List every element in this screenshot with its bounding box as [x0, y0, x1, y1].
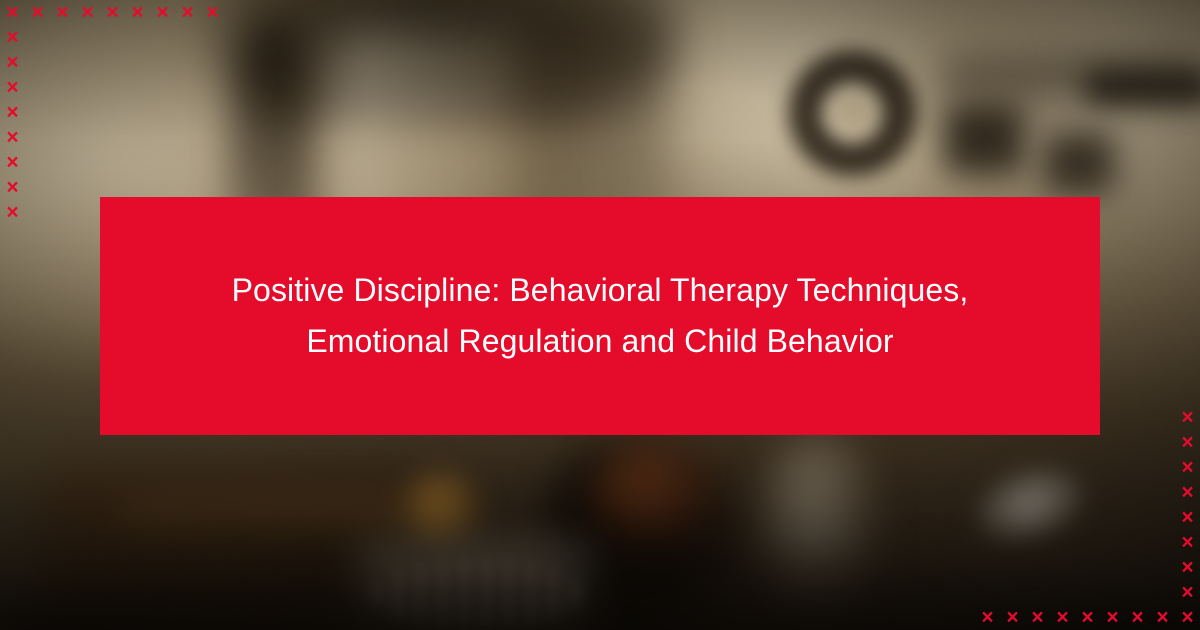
- page-title: Positive Discipline: Behavioral Therapy …: [205, 265, 995, 367]
- title-banner: Positive Discipline: Behavioral Therapy …: [100, 197, 1100, 435]
- social-share-card: ××××××××× ×××××××× ××××××××× ×××××××× Po…: [0, 0, 1200, 630]
